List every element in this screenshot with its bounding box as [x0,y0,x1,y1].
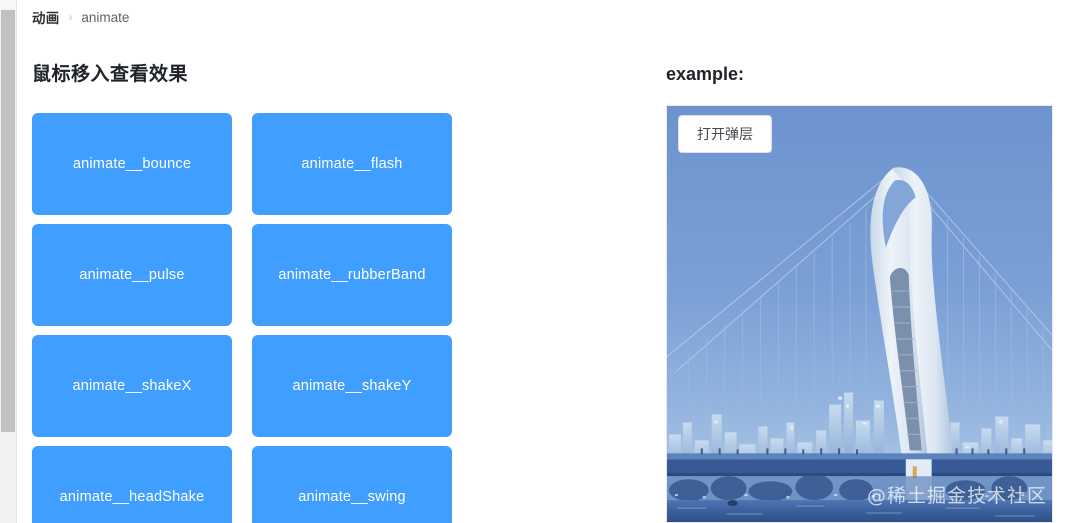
breadcrumb: 动画 › animate [18,0,1089,34]
animate-button-swing[interactable]: animate__swing [252,446,452,523]
animation-button-grid: animate__bounce animate__flash animate__… [32,113,647,523]
bridge-photo [667,106,1052,522]
animate-button-bounce[interactable]: animate__bounce [32,113,232,215]
example-title: example: [666,64,1075,86]
page-title: 鼠标移入查看效果 [32,64,647,87]
animate-button-rubberband[interactable]: animate__rubberBand [252,224,452,326]
page-content: 动画 › animate 鼠标移入查看效果 animate__bounce an… [18,0,1089,523]
animations-column: 鼠标移入查看效果 animate__bounce animate__flash … [32,34,647,523]
animate-button-shakey[interactable]: animate__shakeY [252,335,452,437]
scrollbar-thumb[interactable] [1,10,15,432]
animate-button-headshake[interactable]: animate__headShake [32,446,232,523]
animate-button-shakex[interactable]: animate__shakeX [32,335,232,437]
main-area: 鼠标移入查看效果 animate__bounce animate__flash … [18,34,1089,523]
open-dialog-button[interactable]: 打开弹层 [678,115,772,153]
animate-button-pulse[interactable]: animate__pulse [32,224,232,326]
page-scrollbar[interactable] [0,0,17,523]
example-image-panel: 打开弹层 @稀土掘金技术社区 [666,105,1053,523]
watermark-text: @稀土掘金技术社区 [867,481,1047,508]
scrollbar-up-arrow[interactable] [0,0,16,9]
breadcrumb-item-current: animate [81,10,129,25]
example-column: example: [647,34,1075,523]
chevron-right-icon: › [68,11,72,23]
animate-button-flash[interactable]: animate__flash [252,113,452,215]
breadcrumb-item-root[interactable]: 动画 [32,7,59,27]
